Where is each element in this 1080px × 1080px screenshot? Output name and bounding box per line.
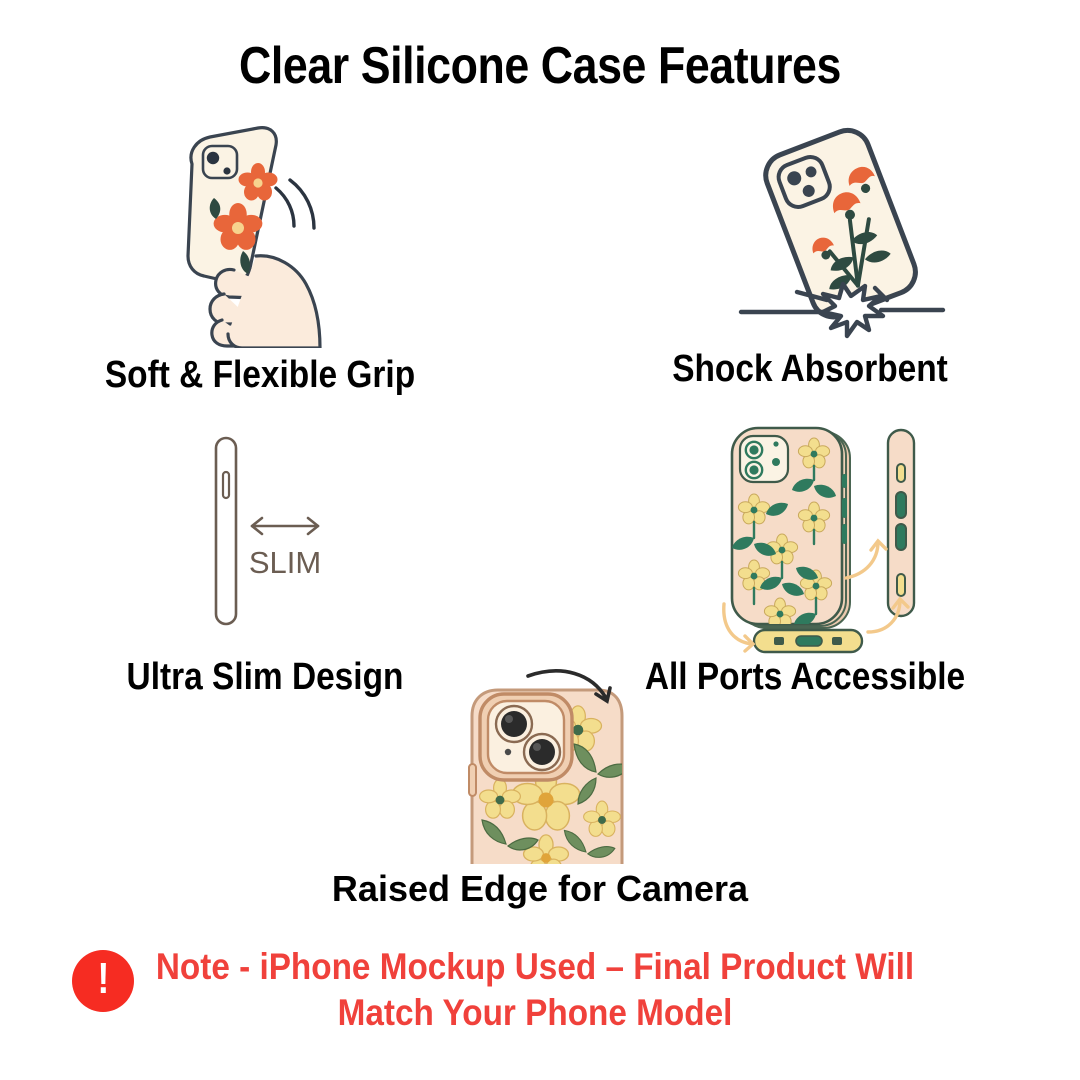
case-bottom-edge-view (754, 630, 862, 652)
infographic-canvas: Clear Silicone Case Features (0, 0, 1080, 1080)
feature-label-ports: All Ports Accessible (576, 656, 1034, 699)
button-cutout (469, 764, 476, 796)
exclamation-glyph: ! (97, 957, 109, 1001)
phone-side-profile (216, 438, 236, 624)
feature-label-camera: Raised Edge for Camera (230, 868, 850, 910)
feature-illustration-slim: SLIM (190, 428, 360, 633)
note-text: Note - iPhone Mockup Used – Final Produc… (148, 944, 922, 1037)
note-line-2: Match Your Phone Model (148, 990, 922, 1036)
flash-dot (505, 749, 511, 755)
slim-annotation: SLIM (249, 545, 321, 580)
motion-arc (276, 180, 314, 228)
button-cutout (223, 472, 229, 498)
page-title: Clear Silicone Case Features (76, 36, 1005, 96)
side-button-cutouts (842, 474, 847, 544)
width-arrow (252, 518, 318, 534)
feature-label-slim: Ultra Slim Design (32, 656, 498, 699)
feature-label-grip: Soft & Flexible Grip (31, 354, 489, 397)
feature-illustration-shock (735, 120, 950, 340)
camera-bump (480, 694, 572, 780)
impact-burst (741, 284, 943, 336)
alert-exclamation-icon: ! (72, 950, 134, 1012)
case-side-edge-view (888, 430, 914, 616)
feature-illustration-camera (450, 668, 640, 864)
feature-label-shock: Shock Absorbent (590, 348, 1030, 391)
feature-illustration-grip (130, 118, 380, 348)
note-banner: ! Note - iPhone Mockup Used – Final Prod… (0, 944, 1080, 1037)
feature-illustration-ports (718, 418, 938, 658)
note-line-1: Note - iPhone Mockup Used – Final Produc… (156, 946, 914, 987)
